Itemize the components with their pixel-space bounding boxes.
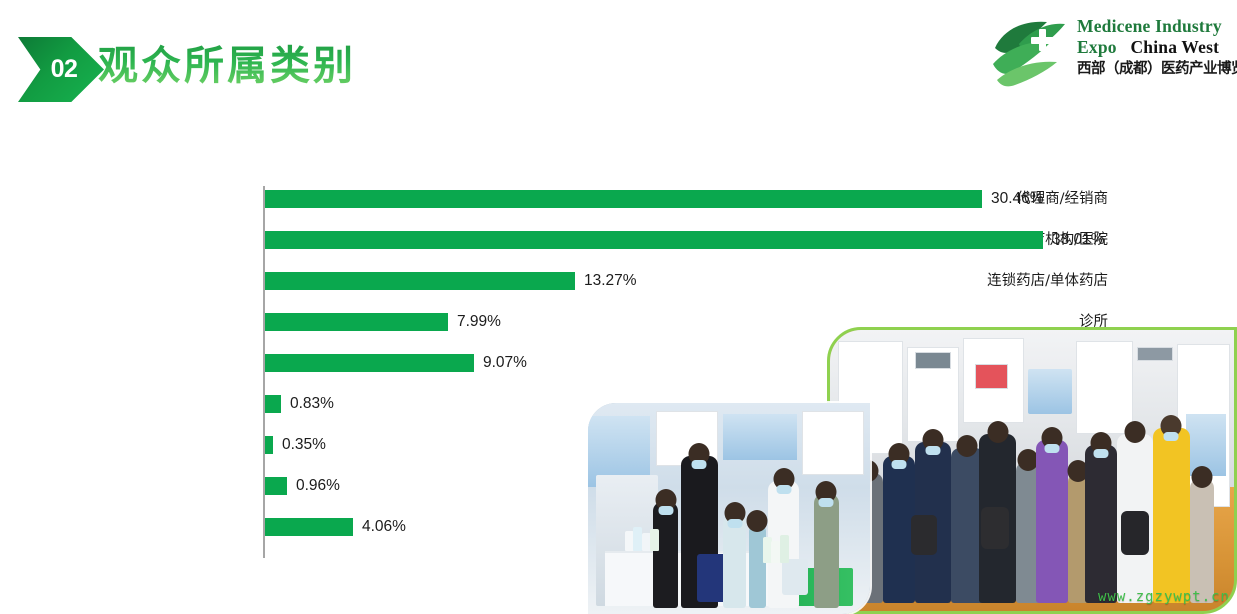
chart-bar: [265, 313, 448, 331]
chart-value-label: 13.27%: [584, 272, 637, 290]
expo-crowd-photo-content: [830, 330, 1234, 611]
watermark-text: www.zgzywpt.cn: [1098, 589, 1230, 605]
chart-value-label: 33.01%: [1052, 231, 1105, 249]
chart-bar-row: 连锁药店/单体药店13.27%: [0, 272, 1120, 290]
logo-line-one: Medicene Industry: [1077, 16, 1235, 37]
brand-logo: Medicene Industry Expo China West 西部（成都）…: [989, 12, 1235, 94]
chart-value-label: 9.07%: [483, 354, 527, 372]
logo-expo-word: Expo: [1077, 37, 1117, 57]
chart-value-label: 7.99%: [457, 313, 501, 331]
chart-category-label: 连锁药店/单体药店: [868, 272, 1120, 290]
chart-bar: [265, 518, 353, 536]
section-number-badge: 02: [18, 37, 104, 102]
expo-booth-visitors-photo: [588, 403, 870, 614]
slide-page: 02 观众所属类别 Medicene Industry Expo China W…: [0, 0, 1237, 614]
chart-bar-row: 各级医疗机构/医院33.01%: [0, 231, 1120, 249]
logo-mark-icon: [989, 14, 1073, 90]
chart-value-label: 30.46%: [991, 190, 1044, 208]
logo-text-block: Medicene Industry Expo China West 西部（成都）…: [1077, 16, 1235, 79]
chart-value-label: 0.96%: [296, 477, 340, 495]
logo-line-two: Expo China West: [1077, 37, 1235, 58]
logo-china-west-word: China West: [1130, 37, 1219, 57]
logo-chinese-name: 西部（成都）医药产业博览会: [1077, 59, 1235, 79]
chart-bar: [265, 231, 1043, 249]
chart-bar: [265, 477, 287, 495]
chart-bar: [265, 272, 575, 290]
expo-crowd-photo: www.zgzywpt.cn: [827, 327, 1237, 614]
slide-header: 02 观众所属类别 Medicene Industry Expo China W…: [0, 0, 1237, 120]
expo-booth-visitors-photo-content: [588, 403, 870, 614]
chart-bar-row: 代理商/经销商30.46%: [0, 190, 1120, 208]
chart-value-label: 0.35%: [282, 436, 326, 454]
chart-value-label: 4.06%: [362, 518, 406, 536]
section-number-label: 02: [18, 37, 104, 102]
chart-bar: [265, 190, 982, 208]
page-title: 观众所属类别: [98, 40, 356, 92]
chart-bar: [265, 354, 474, 372]
chart-bar: [265, 395, 281, 413]
chart-value-label: 0.83%: [290, 395, 334, 413]
chart-bar: [265, 436, 273, 454]
